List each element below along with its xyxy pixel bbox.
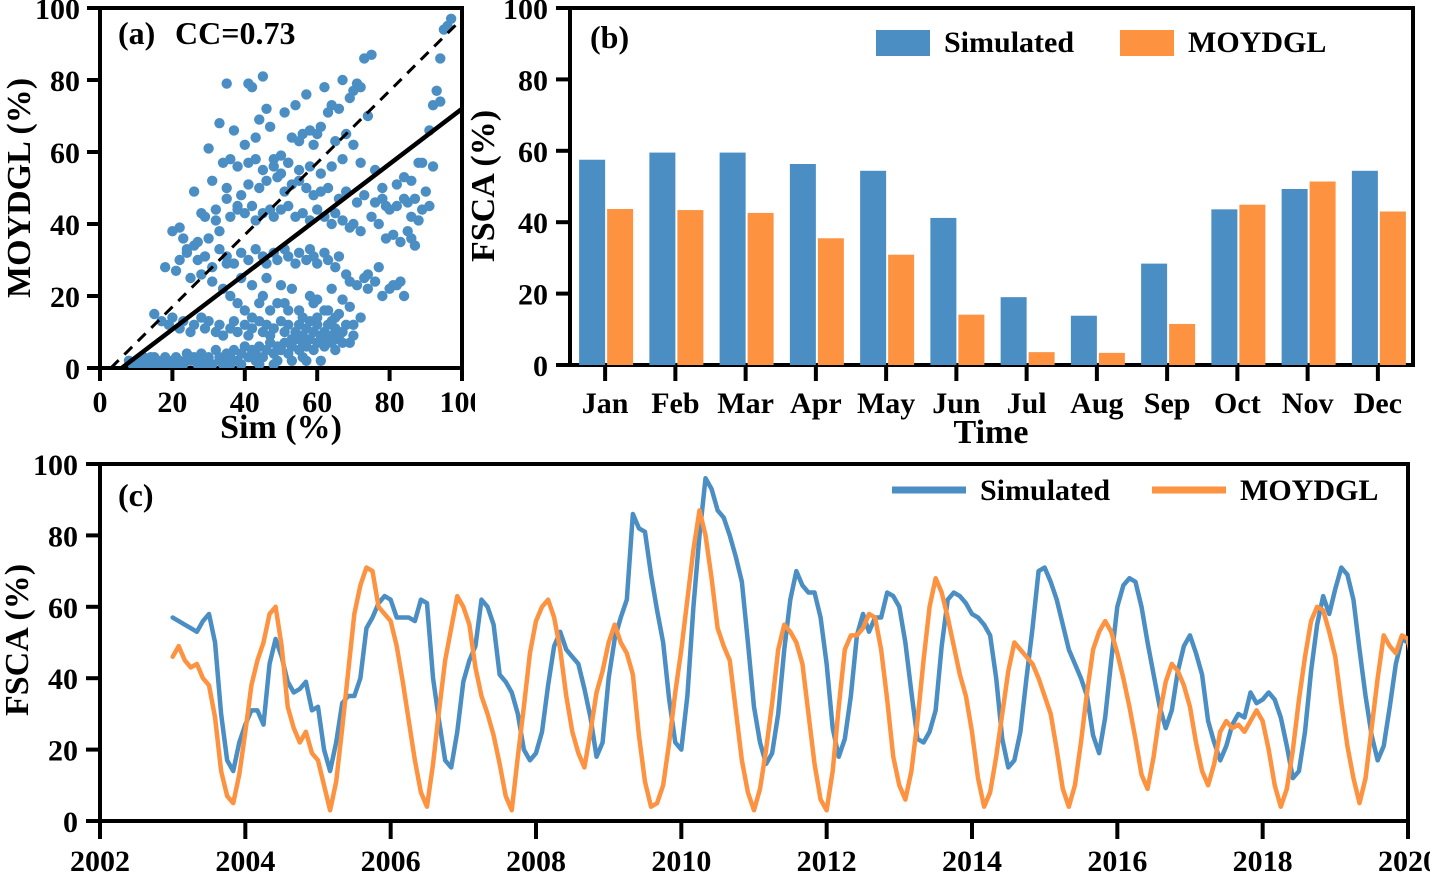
y-tick-label: 40: [50, 209, 80, 242]
scatter-point: [247, 280, 257, 290]
scatter-point: [243, 255, 253, 265]
panel-a: 020406080100020406080100 (a) CC=0.73 Sim…: [0, 0, 475, 445]
scatter-point: [203, 233, 213, 243]
scatter-point: [211, 215, 221, 225]
scatter-point: [272, 255, 282, 265]
legend-label-moydgl: MOYDGL: [1188, 26, 1326, 59]
bar-simulated-feb: [649, 153, 675, 365]
x-tick-label-mar: Mar: [717, 387, 774, 420]
scatter-point: [214, 320, 224, 330]
scatter-point: [319, 305, 329, 315]
scatter-point: [211, 204, 221, 214]
scatter-point: [348, 330, 358, 340]
scatter-point: [240, 140, 250, 150]
x-tick-label-2018: 2018: [1233, 845, 1293, 878]
scatter-point: [326, 161, 336, 171]
bar-moydgl-sep: [1169, 324, 1195, 365]
scatter-point: [160, 262, 170, 272]
scatter-point: [345, 93, 355, 103]
scatter-point: [250, 132, 260, 142]
x-tick-label-2016: 2016: [1087, 845, 1147, 878]
scatter-point: [374, 219, 384, 229]
scatter-point: [312, 258, 322, 268]
scatter-point: [428, 161, 438, 171]
x-tick-label-2002: 2002: [70, 845, 130, 878]
scatter-point: [174, 255, 184, 265]
scatter-point: [145, 352, 155, 362]
panel-a-ylabel: MOYDGL (%): [1, 78, 38, 298]
scatter-point: [330, 136, 340, 146]
x-tick-label-apr: Apr: [790, 387, 842, 420]
scatter-point: [323, 183, 333, 193]
scatter-point: [261, 176, 271, 186]
scatter-point: [301, 356, 311, 366]
scatter-point: [301, 89, 311, 99]
bar-moydgl-may: [888, 255, 914, 365]
scatter-point: [359, 190, 369, 200]
scatter-point: [319, 82, 329, 92]
scatter-point: [312, 294, 322, 304]
scatter-point: [247, 201, 257, 211]
bar-simulated-nov: [1282, 189, 1308, 365]
bar-simulated-mar: [720, 153, 746, 365]
x-tick-label-2006: 2006: [361, 845, 421, 878]
y-tick-label: 100: [35, 0, 80, 26]
scatter-point: [247, 312, 257, 322]
x-tick-label-oct: Oct: [1214, 387, 1261, 420]
x-tick-label: 80: [375, 386, 405, 419]
y-tick-label: 20: [50, 281, 80, 314]
scatter-point: [326, 219, 336, 229]
scatter-point: [261, 273, 271, 283]
y-tick-label: 0: [63, 806, 78, 839]
legend-label-simulated: Simulated: [980, 474, 1110, 507]
scatter-point: [334, 251, 344, 261]
scatter-point: [222, 194, 232, 204]
scatter-point: [283, 158, 293, 168]
scatter-point: [337, 338, 347, 348]
scatter-point: [229, 316, 239, 326]
scatter-point: [283, 305, 293, 315]
y-tick-label: 40: [48, 663, 78, 696]
bar-simulated-aug: [1071, 316, 1097, 365]
scatter-point: [334, 309, 344, 319]
bar-simulated-jul: [1001, 297, 1027, 365]
scatter-point: [167, 226, 177, 236]
y-tick-label: 0: [533, 350, 548, 383]
scatter-point: [377, 194, 387, 204]
y-tick-label: 80: [518, 64, 548, 97]
scatter-point: [250, 154, 260, 164]
y-tick-label: 40: [518, 207, 548, 240]
bar-moydgl-oct: [1239, 205, 1265, 365]
scatter-point: [323, 107, 333, 117]
scatter-point: [207, 176, 217, 186]
scatter-point: [261, 104, 271, 114]
panel-c-ylabel: FSCA (%): [0, 564, 36, 716]
x-tick-label-jan: Jan: [582, 387, 629, 420]
x-tick-label-2004: 2004: [215, 845, 275, 878]
scatter-point: [337, 75, 347, 85]
scatter-point: [424, 201, 434, 211]
scatter-point: [345, 302, 355, 312]
bar-moydgl-mar: [748, 213, 774, 365]
scatter-point: [363, 269, 373, 279]
scatter-point: [431, 86, 441, 96]
scatter-point: [214, 118, 224, 128]
scatter-point: [326, 284, 336, 294]
scatter-point: [355, 226, 365, 236]
x-tick-label-may: May: [857, 387, 915, 420]
bar-moydgl-dec: [1380, 211, 1406, 365]
bar-moydgl-jul: [1029, 352, 1055, 365]
scatter-point: [200, 251, 210, 261]
scatter-point: [247, 82, 257, 92]
scatter-point: [395, 237, 405, 247]
scatter-point: [193, 237, 203, 247]
legend-label-moydgl: MOYDGL: [1240, 474, 1378, 507]
scatter-point: [298, 129, 308, 139]
scatter-point: [182, 244, 192, 254]
panel-a-label: (a): [118, 15, 155, 51]
bar-simulated-dec: [1352, 171, 1378, 365]
panel-c-plot-area: [100, 464, 1430, 821]
x-tick-label-feb: Feb: [651, 387, 699, 420]
scatter-point: [222, 258, 232, 268]
bar-simulated-may: [860, 171, 886, 365]
scatter-point: [229, 356, 239, 366]
bar-simulated-apr: [790, 164, 816, 365]
x-tick-label-2014: 2014: [942, 845, 1002, 878]
x-tick-label: 0: [93, 386, 108, 419]
legend-swatch-simulated: [876, 30, 930, 56]
scatter-point: [359, 53, 369, 63]
bar-moydgl-feb: [677, 210, 703, 365]
scatter-point: [189, 186, 199, 196]
scatter-point: [279, 107, 289, 117]
legend-swatch-moydgl: [1120, 30, 1174, 56]
scatter-point: [287, 284, 297, 294]
scatter-point: [316, 122, 326, 132]
y-tick-label: 20: [48, 735, 78, 768]
panel-c-label: (c): [118, 477, 154, 513]
x-tick-label: 20: [157, 386, 187, 419]
x-tick-label-2012: 2012: [797, 845, 857, 878]
y-tick-label: 0: [65, 353, 80, 386]
scatter-point: [287, 356, 297, 366]
bar-moydgl-apr: [818, 238, 844, 365]
panel-b-plot-area: [570, 8, 1413, 365]
scatter-point: [185, 352, 195, 362]
scatter-point: [337, 154, 347, 164]
bar-moydgl-jun: [958, 315, 984, 365]
y-tick-label: 100: [33, 449, 78, 482]
scatter-point: [294, 165, 304, 175]
panel-a-svg: 020406080100020406080100 (a) CC=0.73 Sim…: [0, 0, 475, 445]
scatter-point: [178, 233, 188, 243]
bar-simulated-oct: [1211, 209, 1237, 365]
scatter-point: [167, 312, 177, 322]
scatter-point: [232, 161, 242, 171]
legend-label-simulated: Simulated: [944, 26, 1074, 59]
scatter-point: [222, 183, 232, 193]
scatter-point: [272, 298, 282, 308]
scatter-point: [417, 158, 427, 168]
scatter-point: [214, 226, 224, 236]
scatter-point: [406, 233, 416, 243]
scatter-point: [392, 179, 402, 189]
scatter-point: [214, 356, 224, 366]
scatter-point: [290, 100, 300, 110]
x-tick-label-aug: Aug: [1070, 387, 1123, 420]
y-tick-label: 60: [48, 592, 78, 625]
scatter-point: [413, 215, 423, 225]
scatter-point: [160, 356, 170, 366]
scatter-point: [196, 269, 206, 279]
scatter-point: [258, 165, 268, 175]
scatter-point: [276, 168, 286, 178]
y-tick-label: 80: [50, 65, 80, 98]
scatter-point: [399, 291, 409, 301]
scatter-point: [334, 104, 344, 114]
scatter-point: [330, 262, 340, 272]
bar-simulated-sep: [1141, 264, 1167, 365]
bar-moydgl-jan: [607, 209, 633, 365]
panel-b-label: (b): [590, 19, 629, 55]
scatter-point: [403, 197, 413, 207]
panel-c: 0204060801002002200420062008201020122014…: [0, 440, 1430, 878]
scatter-point: [243, 179, 253, 189]
y-tick-label: 60: [518, 136, 548, 169]
scatter-point: [348, 320, 358, 330]
panel-b-svg: 020406080100JanFebMarAprMayJunJulAugSepO…: [460, 0, 1430, 450]
scatter-point: [395, 276, 405, 286]
scatter-point: [203, 143, 213, 153]
figure-root: 020406080100020406080100 (a) CC=0.73 Sim…: [0, 0, 1430, 878]
panel-a-plot-area: [100, 8, 462, 370]
scatter-point: [374, 262, 384, 272]
scatter-point: [207, 276, 217, 286]
scatter-point: [236, 190, 246, 200]
y-tick-label: 60: [50, 137, 80, 170]
panel-b: 020406080100JanFebMarAprMayJunJulAugSepO…: [460, 0, 1430, 450]
scatter-point: [229, 125, 239, 135]
y-tick-label: 100: [503, 0, 548, 26]
scatter-point: [316, 356, 326, 366]
scatter-point: [258, 291, 268, 301]
scatter-point: [232, 201, 242, 211]
x-tick-label-2020: 2020: [1378, 845, 1430, 878]
x-tick-label-dec: Dec: [1354, 387, 1402, 420]
scatter-point: [421, 186, 431, 196]
panel-a-annotation: CC=0.73: [175, 15, 295, 51]
scatter-point: [185, 273, 195, 283]
panel-c-svg: 0204060801002002200420062008201020122014…: [0, 440, 1430, 878]
scatter-point: [203, 316, 213, 326]
scatter-point: [254, 114, 264, 124]
scatter-point: [377, 183, 387, 193]
scatter-point: [276, 280, 286, 290]
x-tick-label-2008: 2008: [506, 845, 566, 878]
x-tick-label-2010: 2010: [651, 845, 711, 878]
scatter-point: [258, 71, 268, 81]
x-tick-label-nov: Nov: [1282, 387, 1334, 420]
scatter-point: [348, 140, 358, 150]
x-tick-label-sep: Sep: [1144, 387, 1191, 420]
scatter-point: [428, 100, 438, 110]
scatter-point: [200, 212, 210, 222]
scatter-point: [283, 201, 293, 211]
scatter-point: [222, 78, 232, 88]
scatter-point: [308, 140, 318, 150]
scatter-point: [316, 168, 326, 178]
scatter-point: [290, 258, 300, 268]
bar-simulated-jan: [579, 160, 605, 365]
scatter-point: [435, 53, 445, 63]
scatter-point: [298, 312, 308, 322]
y-tick-label: 80: [48, 520, 78, 553]
scatter-point: [355, 158, 365, 168]
scatter-point: [171, 266, 181, 276]
scatter-point: [265, 122, 275, 132]
bar-simulated-jun: [930, 218, 956, 365]
panel-b-ylabel: FSCA (%): [465, 110, 502, 262]
bar-moydgl-aug: [1099, 353, 1125, 365]
bar-moydgl-nov: [1310, 182, 1336, 365]
y-tick-label: 20: [518, 279, 548, 312]
